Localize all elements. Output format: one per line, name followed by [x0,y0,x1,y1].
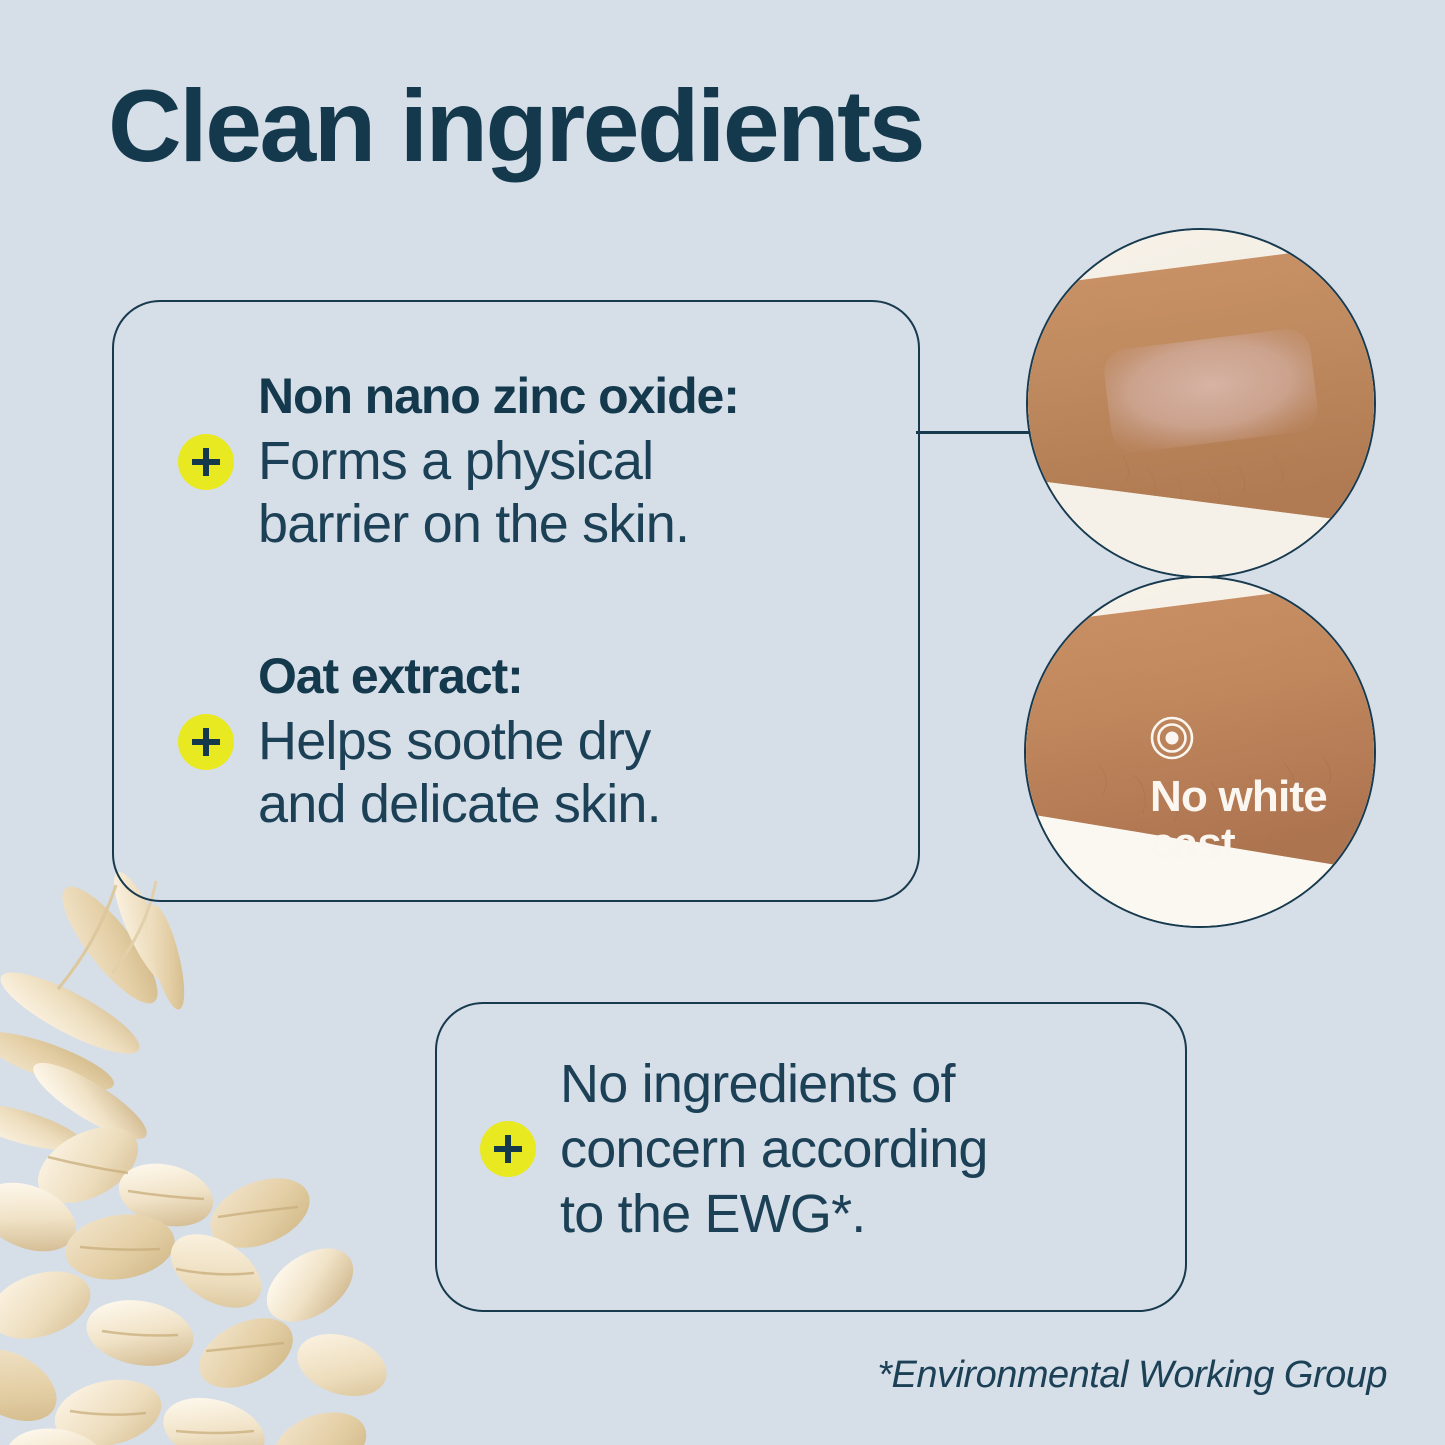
bullet-text-ewg: No ingredients ofconcern accordingto the… [560,1052,988,1246]
bullet-body-ewg: No ingredients ofconcern accordingto the… [560,1052,988,1246]
bullet-body-oat-extract: Helps soothe dryand delicate skin. [258,710,661,835]
infographic-canvas: Clean ingredients [0,0,1445,1445]
oat-grains-decoration [0,865,400,1445]
bullet-body-zinc-oxide: Forms a physicalbarrier on the skin. [258,430,739,555]
ripple-target-icon [1150,716,1194,760]
footnote: *Environmental Working Group [877,1354,1387,1397]
connector-line [916,431,1036,434]
bullet-text-oat-extract: Oat extract: Helps soothe dryand delicat… [258,648,661,835]
nocast-label: No white cast [1150,774,1365,867]
bullet-heading-zinc-oxide: Non nano zinc oxide: [258,368,739,424]
bullet-heading-oat-extract: Oat extract: [258,648,661,704]
bullet-item-zinc-oxide: Non nano zinc oxide: Forms a physicalbar… [178,368,739,555]
nocast-overlay: No white cast [1150,716,1380,867]
photo-swatch-circle [1026,228,1376,578]
plus-icon [178,714,234,770]
bullet-item-ewg: No ingredients ofconcern accordingto the… [480,1052,988,1246]
page-title: Clean ingredients [108,72,923,180]
bullet-item-oat-extract: Oat extract: Helps soothe dryand delicat… [178,648,661,835]
bullet-text-zinc-oxide: Non nano zinc oxide: Forms a physicalbar… [258,368,739,555]
plus-icon [178,434,234,490]
plus-icon [480,1121,536,1177]
